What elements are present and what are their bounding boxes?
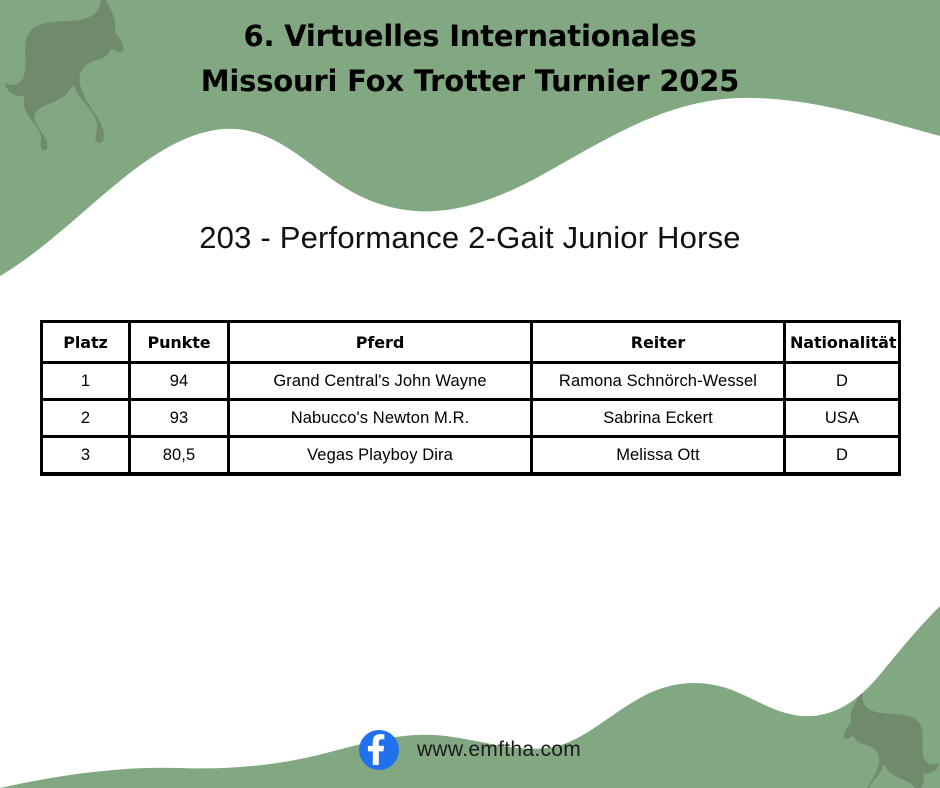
table-header-row: Platz Punkte Pferd Reiter Nationalität bbox=[42, 322, 900, 363]
cell-platz: 1 bbox=[42, 363, 130, 400]
cell-platz: 2 bbox=[42, 400, 130, 437]
cell-pferd: Vegas Playboy Dira bbox=[229, 437, 532, 475]
cell-nationalitaet: USA bbox=[785, 400, 900, 437]
cell-reiter: Sabrina Eckert bbox=[532, 400, 785, 437]
column-header-punkte: Punkte bbox=[130, 322, 229, 363]
cell-reiter: Ramona Schnörch-Wessel bbox=[532, 363, 785, 400]
column-header-reiter: Reiter bbox=[532, 322, 785, 363]
column-header-pferd: Pferd bbox=[229, 322, 532, 363]
results-table: Platz Punkte Pferd Reiter Nationalität 1… bbox=[40, 320, 901, 476]
cell-nationalitaet: D bbox=[785, 437, 900, 475]
cell-punkte: 80,5 bbox=[130, 437, 229, 475]
column-header-nationalitaet: Nationalität bbox=[785, 322, 900, 363]
column-header-platz: Platz bbox=[42, 322, 130, 363]
table-row: 1 94 Grand Central's John Wayne Ramona S… bbox=[42, 363, 900, 400]
footer: www.emftha.com bbox=[0, 724, 940, 776]
website-url[interactable]: www.emftha.com bbox=[417, 738, 581, 762]
cell-pferd: Grand Central's John Wayne bbox=[229, 363, 532, 400]
cell-nationalitaet: D bbox=[785, 363, 900, 400]
table-row: 3 80,5 Vegas Playboy Dira Melissa Ott D bbox=[42, 437, 900, 475]
cell-punkte: 94 bbox=[130, 363, 229, 400]
results-table-container: Platz Punkte Pferd Reiter Nationalität 1… bbox=[40, 320, 898, 476]
cell-reiter: Melissa Ott bbox=[532, 437, 785, 475]
cell-platz: 3 bbox=[42, 437, 130, 475]
facebook-icon[interactable] bbox=[359, 730, 399, 770]
table-row: 2 93 Nabucco's Newton M.R. Sabrina Ecker… bbox=[42, 400, 900, 437]
cell-punkte: 93 bbox=[130, 400, 229, 437]
results-poster: 6. Virtuelles Internationales Missouri F… bbox=[0, 0, 940, 788]
class-heading: 203 - Performance 2-Gait Junior Horse bbox=[0, 216, 940, 260]
cell-pferd: Nabucco's Newton M.R. bbox=[229, 400, 532, 437]
